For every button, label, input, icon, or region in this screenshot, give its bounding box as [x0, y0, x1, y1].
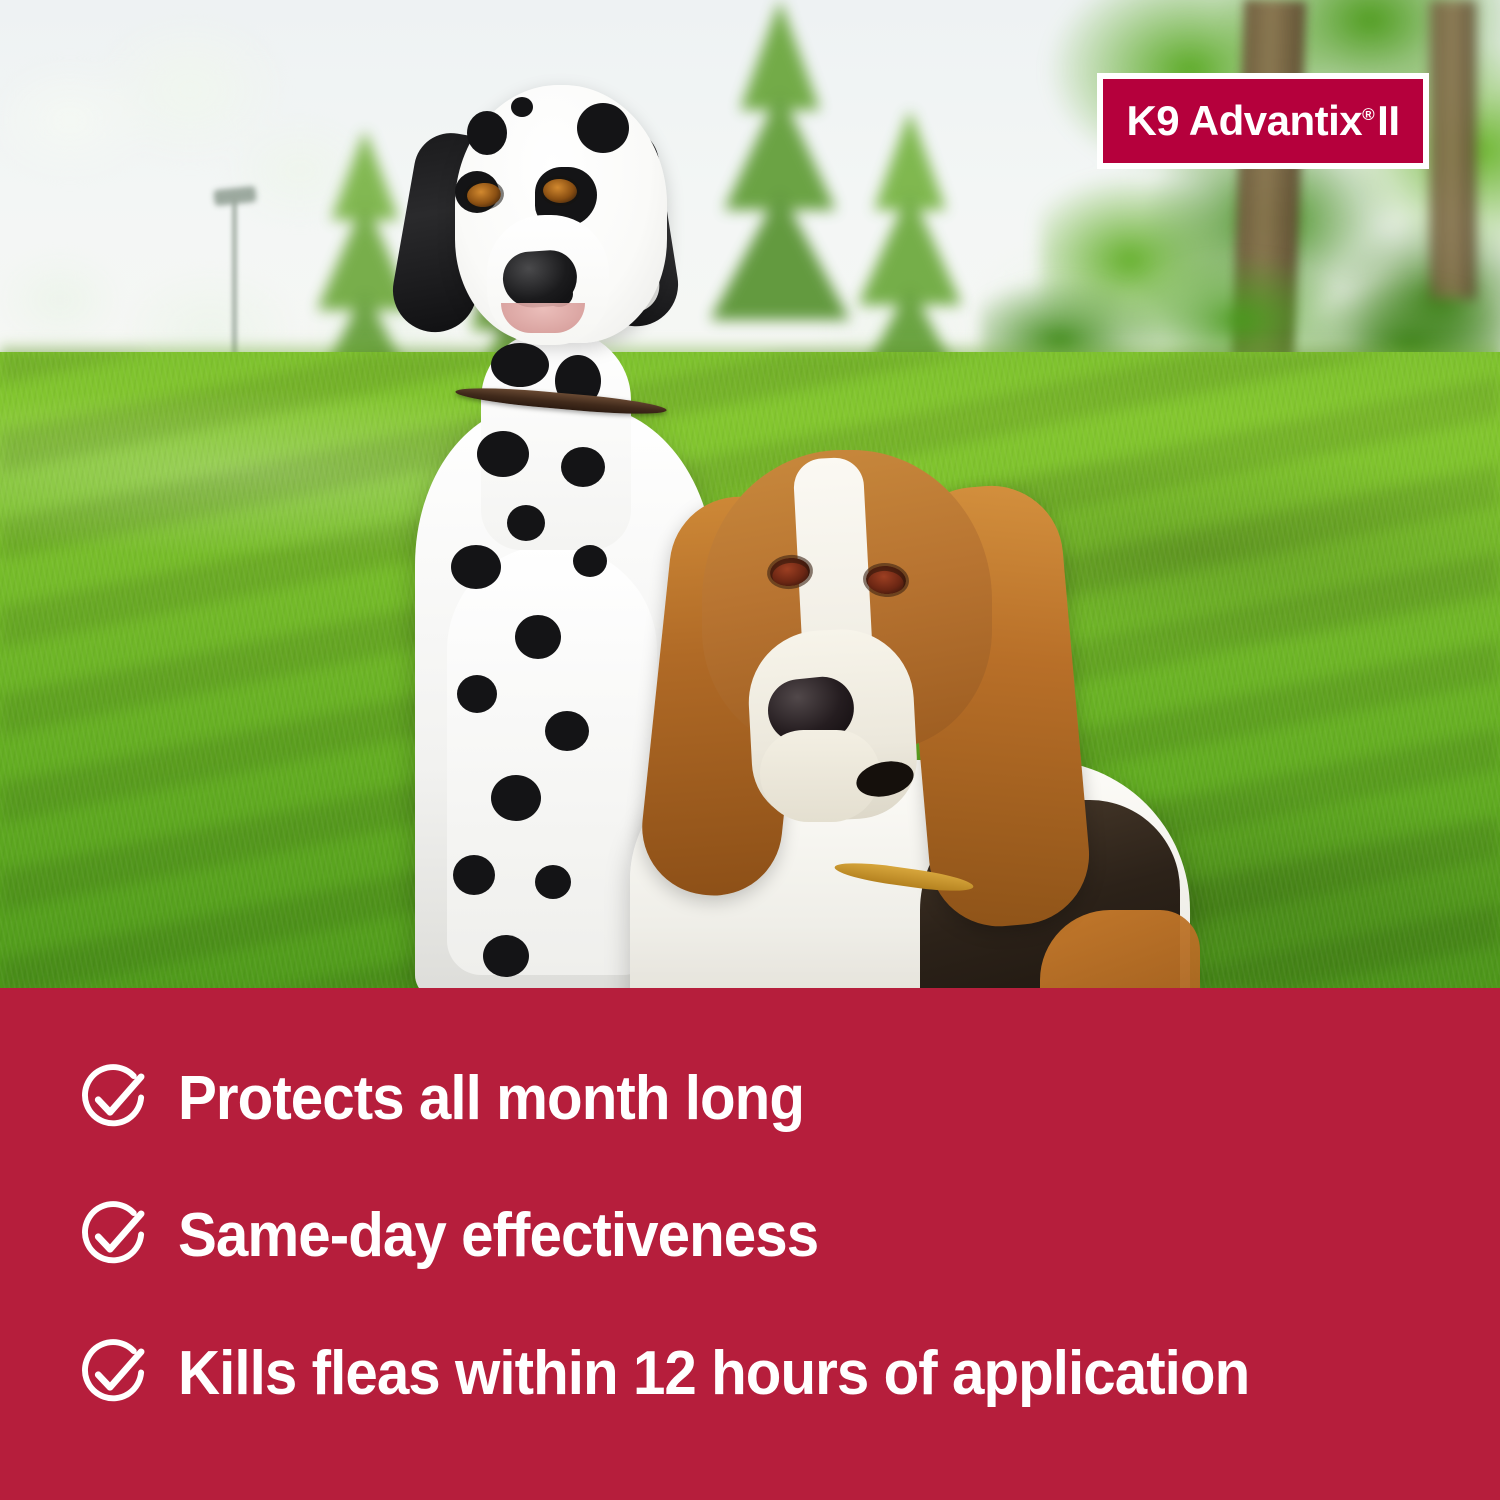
- benefit-item-3: Kills fleas within 12 hours of applicati…: [76, 1337, 1318, 1411]
- dalmatian-spot: [515, 615, 561, 659]
- benefit-label: Kills fleas within 12 hours of applicati…: [178, 1337, 1249, 1411]
- dalmatian-spot: [573, 545, 607, 577]
- check-circle-icon: [76, 1062, 150, 1136]
- basset-hound-dog: [620, 430, 1180, 990]
- check-circle-icon: [76, 1337, 150, 1411]
- dalmatian-spot: [451, 545, 501, 589]
- dalmatian-spot: [453, 855, 495, 895]
- dalmatian-spot: [535, 865, 571, 899]
- dalmatian-spot: [457, 675, 497, 713]
- benefit-item-2: Same-day effectiveness: [76, 1199, 859, 1273]
- benefits-list: Protects all month long Same-day effecti…: [0, 0, 1500, 512]
- dalmatian-spot: [483, 935, 529, 977]
- dalmatian-spot: [491, 775, 541, 821]
- product-marketing-image: K9 Advantix®II Protects all month long S…: [0, 0, 1500, 1500]
- benefit-item-1: Protects all month long: [76, 1062, 844, 1136]
- check-circle-icon: [76, 1199, 150, 1273]
- dalmatian-spot: [545, 711, 589, 751]
- benefit-label: Same-day effectiveness: [178, 1199, 818, 1273]
- benefit-label: Protects all month long: [178, 1062, 804, 1136]
